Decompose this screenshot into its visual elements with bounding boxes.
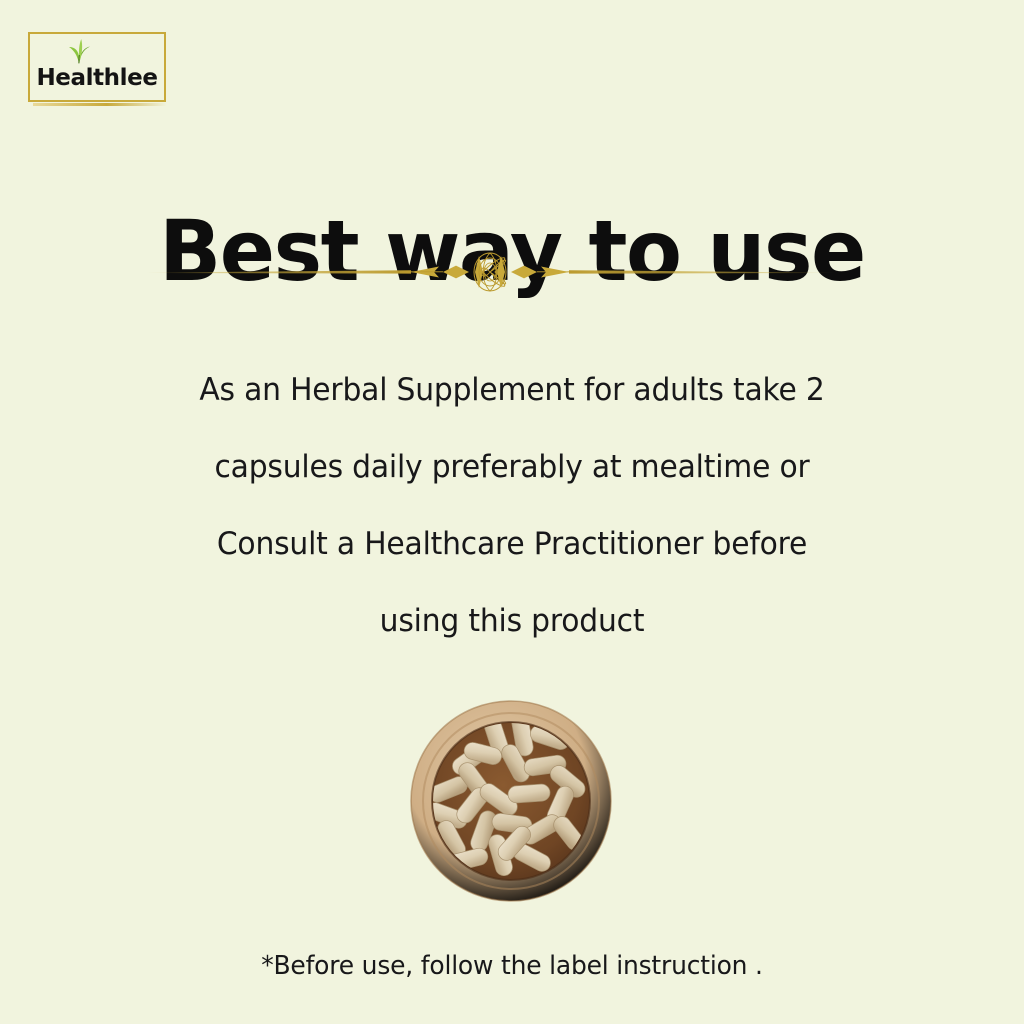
ornamental-divider [143,252,837,292]
leaf-sprig-icon [62,38,96,64]
body-line-1: As an Herbal Supplement for adults take … [128,352,896,429]
footer-note: *Before use, follow the label instructio… [20,953,1003,979]
body-line-3: Consult a Healthcare Practitioner before [128,506,896,583]
logo-wordmark: Healthlee [36,67,157,90]
body-line-4: using this product [128,583,896,660]
body-line-2: capsules daily preferably at mealtime or [128,429,896,506]
brand-logo: Healthlee [28,32,166,102]
bowl-of-capsules-illustration [408,699,614,903]
body-copy: As an Herbal Supplement for adults take … [128,352,896,660]
ornamental-flourish-divider-icon [143,252,837,292]
product-image-bowl-of-capsules [408,699,614,903]
logo-wordmark-wrap: Healthlee [28,32,166,102]
